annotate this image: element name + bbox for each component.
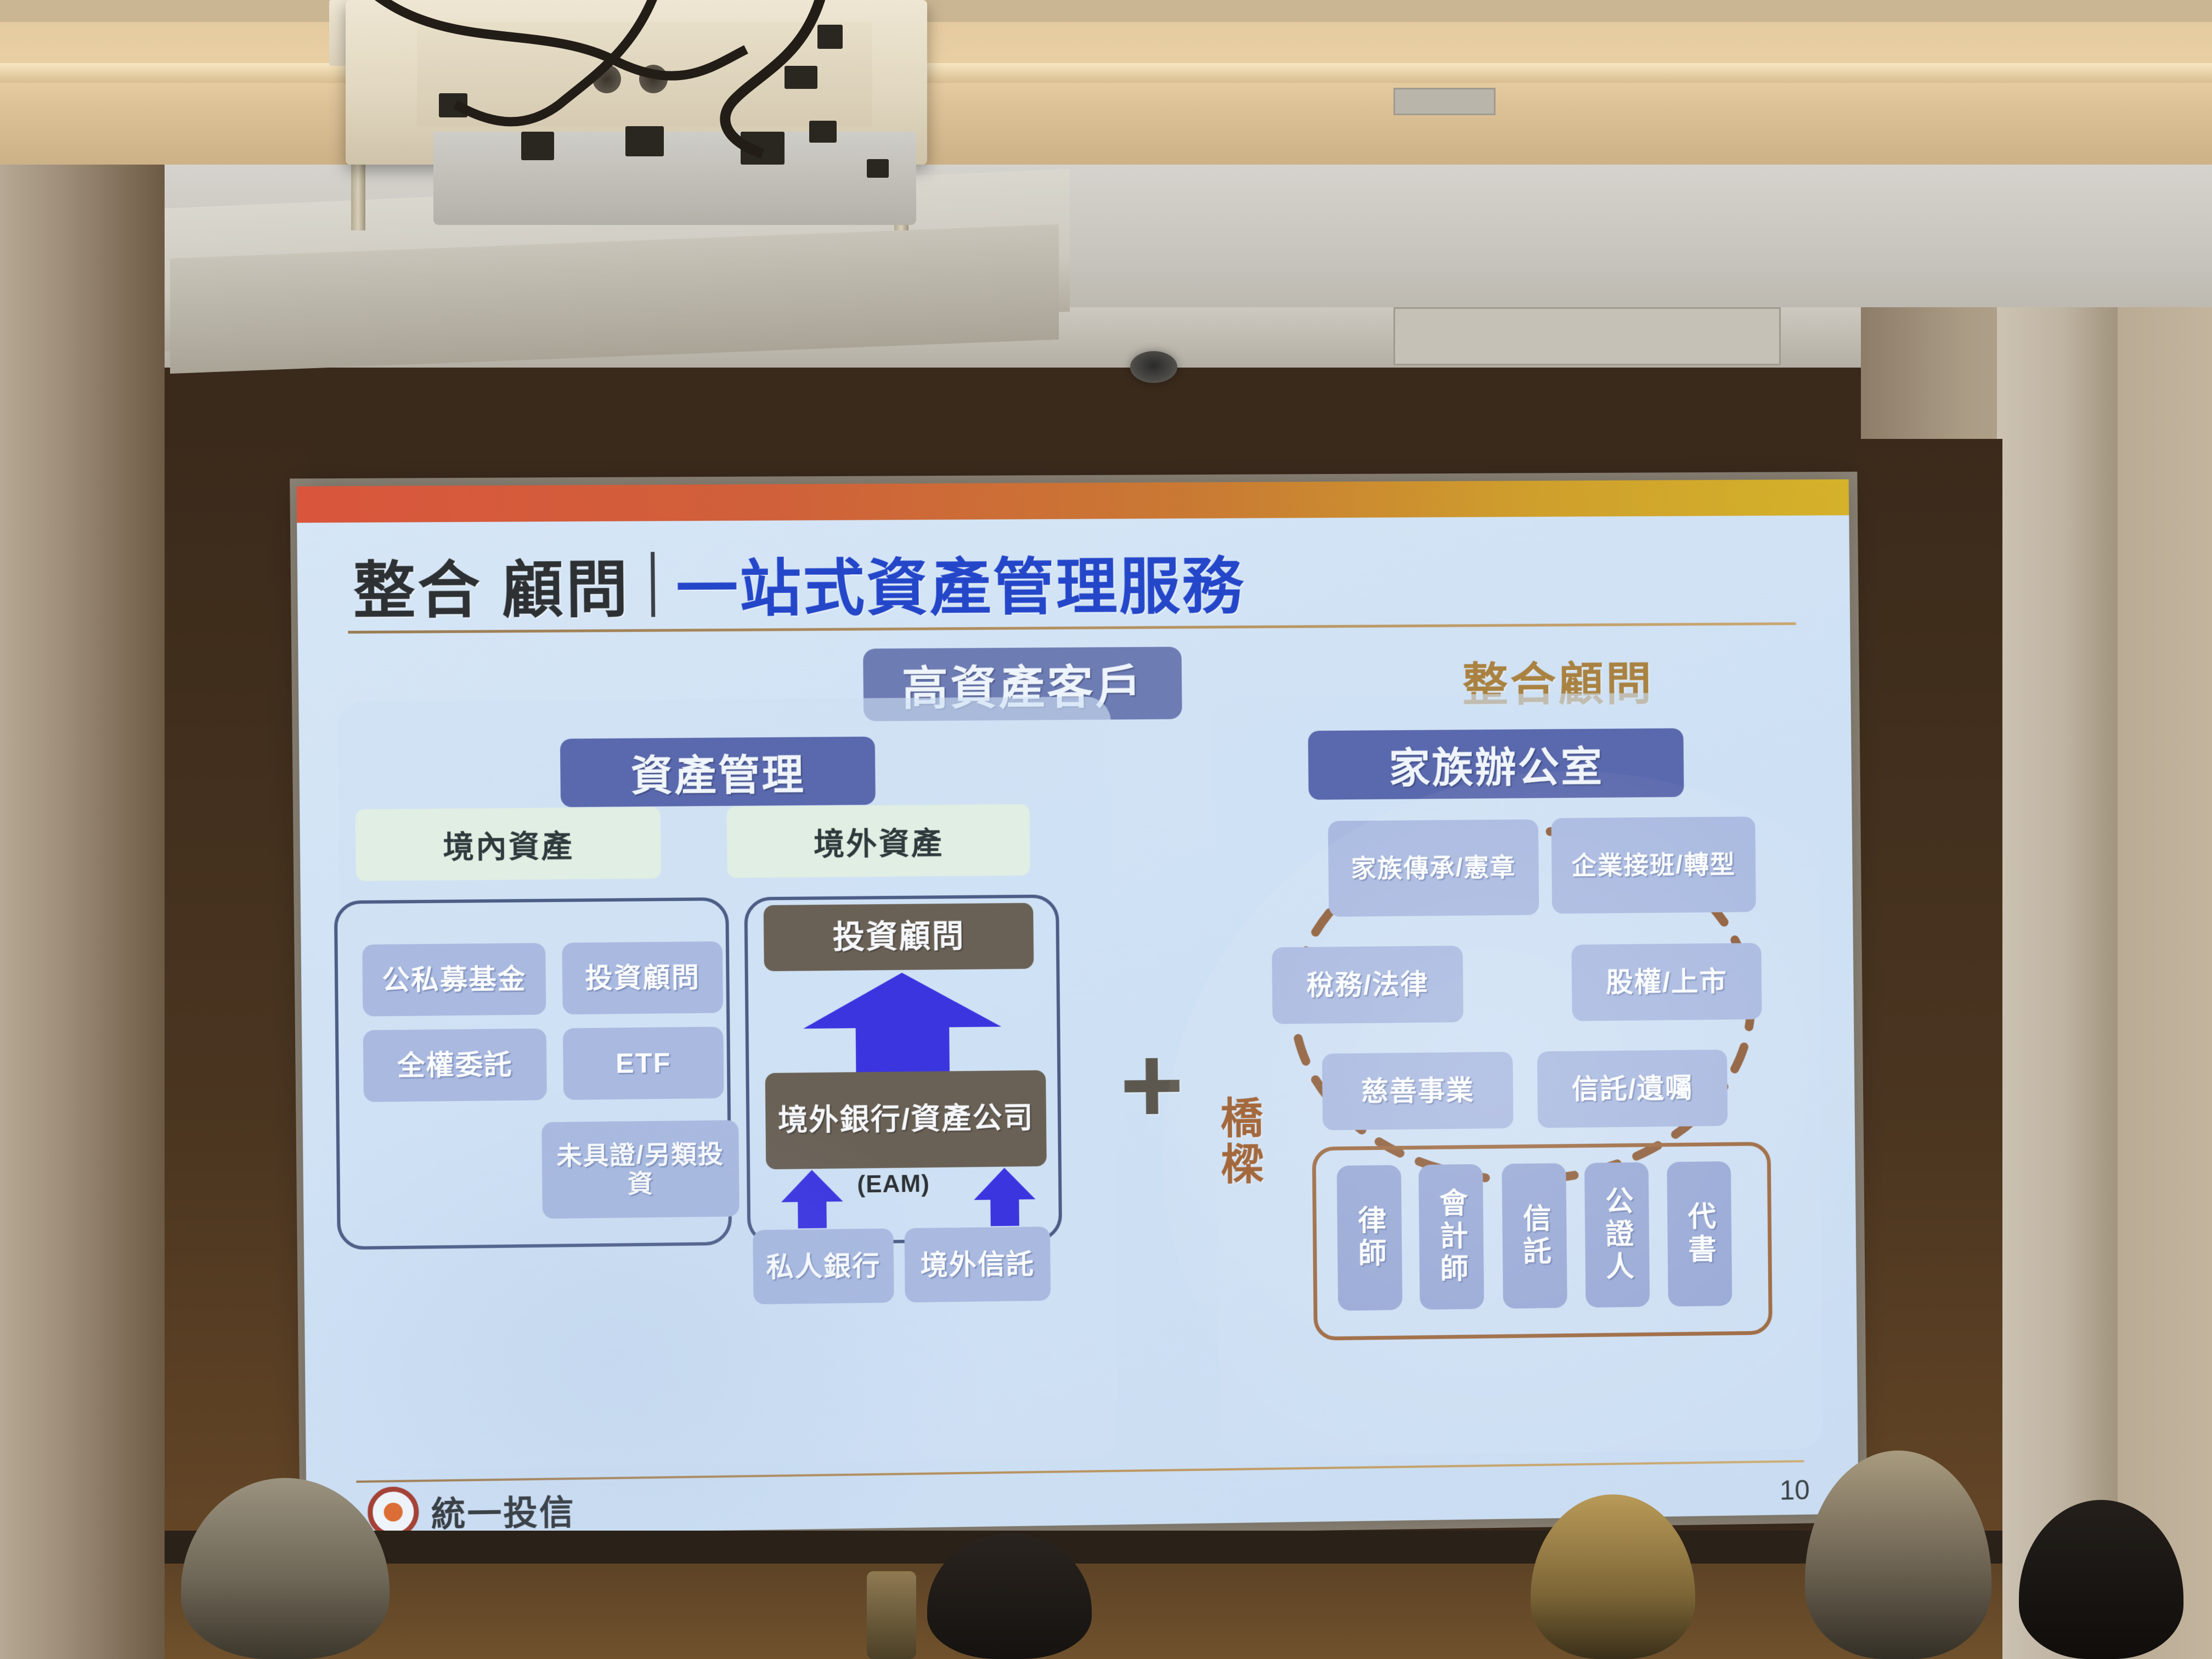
chip-business-succession-transformation: 企業接班/轉型 (1551, 816, 1756, 913)
chip-philanthropy: 慈善事業 (1322, 1052, 1514, 1130)
label-domestic-assets-text: 境內資產 (443, 821, 574, 867)
chip-notary: 公證人 (1584, 1162, 1650, 1307)
company-name-label: 統一投信 (431, 1485, 575, 1536)
label-offshore-assets: 境外資產 (727, 804, 1030, 878)
company-logo: 統一投信 (368, 1484, 575, 1537)
chip-business-succession-transformation-label: 企業接班/轉型 (1571, 850, 1736, 880)
chip-offshore-bank-asset-company: 境外銀行/資產公司 (765, 1070, 1047, 1170)
chip-accountant: 會計師 (1419, 1164, 1485, 1310)
chip-unlisted-alternative-investment: 未具證/另類投資 (541, 1120, 740, 1219)
subheader-asset-management-label: 資產管理 (630, 741, 805, 803)
chip-public-private-funds: 公私募基金 (362, 943, 546, 1017)
wall-shadow-strip (165, 1531, 2002, 1564)
ceiling-vent (1393, 88, 1496, 115)
arrow-up-from-private-bank-icon (780, 1169, 847, 1230)
chip-investment-advisory-domestic: 投資顧問 (562, 941, 723, 1014)
chip-trust: 信託 (1502, 1163, 1567, 1308)
chip-tax-legal-label: 稅務/法律 (1306, 969, 1429, 1001)
projector-cables (329, 0, 988, 170)
slide-title: 整合 顧問 一站式資產管理服務 (353, 537, 1245, 630)
slide-top-accent-bar (297, 479, 1849, 523)
logo-mark-icon (368, 1486, 419, 1537)
label-domestic-assets: 境內資產 (356, 807, 661, 881)
chip-lawyer: 律師 (1337, 1165, 1403, 1311)
left-wall (0, 165, 165, 1659)
chip-family-legacy-charter-label: 家族傳承/憲章 (1351, 853, 1516, 883)
chip-notary-label: 公證人 (1596, 1186, 1638, 1284)
chip-accountant-label: 會計師 (1430, 1187, 1472, 1286)
chip-discretionary-mandate: 全權委託 (363, 1029, 547, 1102)
chip-lawyer-label: 律師 (1349, 1205, 1391, 1271)
label-bridge: 橋樑 (1207, 1095, 1269, 1188)
page-number: 10 (1780, 1474, 1810, 1506)
chip-trust-will: 信託/遺囑 (1537, 1049, 1728, 1128)
chip-philanthropy-label: 慈善事業 (1361, 1075, 1475, 1107)
chip-private-bank: 私人銀行 (753, 1228, 894, 1304)
subheader-family-office: 家族辦公室 (1308, 728, 1684, 799)
chip-offshore-trust-label: 境外信託 (920, 1249, 1035, 1281)
ceiling-access-panel (1393, 307, 1781, 365)
title-right-text: 一站式資產管理服務 (675, 537, 1245, 629)
chip-etf: ETF (563, 1026, 724, 1100)
subheader-family-office-label: 家族辦公室 (1389, 733, 1604, 794)
left-dark-wood-panel (165, 439, 307, 1659)
slide-canvas: 整合 顧問 一站式資產管理服務 高資產客戶 整合顧問 資產管理 境內資產 境外資… (297, 479, 1859, 1537)
ceiling-downlight-icon (1130, 351, 1177, 383)
chip-public-private-funds-label: 公私募基金 (382, 963, 527, 996)
chip-offshore-investment-advisory: 投資顧問 (764, 903, 1034, 972)
chip-equity-ipo: 股權/上市 (1571, 943, 1762, 1021)
right-pillar (1997, 307, 2118, 1659)
chip-unlisted-alternative-investment-label: 未具證/另類投資 (546, 1140, 735, 1199)
arrow-up-to-advisory-icon (800, 969, 1005, 1075)
plus-sign: + (1119, 1030, 1184, 1141)
chip-offshore-bank-asset-company-label: 境外銀行/資產公司 (778, 1102, 1034, 1138)
chip-family-legacy-charter: 家族傳承/憲章 (1328, 819, 1539, 917)
title-left-text: 整合 顧問 (353, 540, 630, 631)
label-offshore-assets-text: 境外資產 (814, 818, 944, 864)
chip-offshore-trust: 境外信託 (904, 1227, 1051, 1302)
chip-investment-advisory-domestic-label: 投資顧問 (585, 962, 700, 994)
chip-etf-label: ETF (616, 1048, 672, 1079)
label-eam-note: (EAM) (857, 1170, 930, 1199)
chip-trust-label: 信託 (1514, 1203, 1555, 1269)
chip-scrivener-label: 代書 (1679, 1201, 1720, 1267)
chip-private-bank-label: 私人銀行 (766, 1250, 881, 1283)
projection-screen: 整合 顧問 一站式資產管理服務 高資產客戶 整合顧問 資產管理 境內資產 境外資… (297, 479, 1859, 1537)
audience-handheld-object (867, 1571, 916, 1659)
chip-tax-legal: 稅務/法律 (1272, 946, 1463, 1024)
chip-trust-will-label: 信託/遺囑 (1572, 1073, 1694, 1105)
photo-of-projected-slide: 整合 顧問 一站式資產管理服務 高資產客戶 整合顧問 資產管理 境內資產 境外資… (0, 0, 2212, 1659)
chip-discretionary-mandate-label: 全權委託 (397, 1049, 513, 1081)
title-divider (651, 552, 655, 617)
chip-offshore-investment-advisory-label: 投資顧問 (833, 918, 965, 955)
subheader-asset-management: 資產管理 (560, 737, 876, 808)
arrow-up-from-offshore-trust-icon (973, 1166, 1039, 1227)
chip-equity-ipo-label: 股權/上市 (1606, 966, 1728, 998)
chip-scrivener: 代書 (1667, 1161, 1732, 1307)
logo-dot-icon (383, 1503, 403, 1522)
